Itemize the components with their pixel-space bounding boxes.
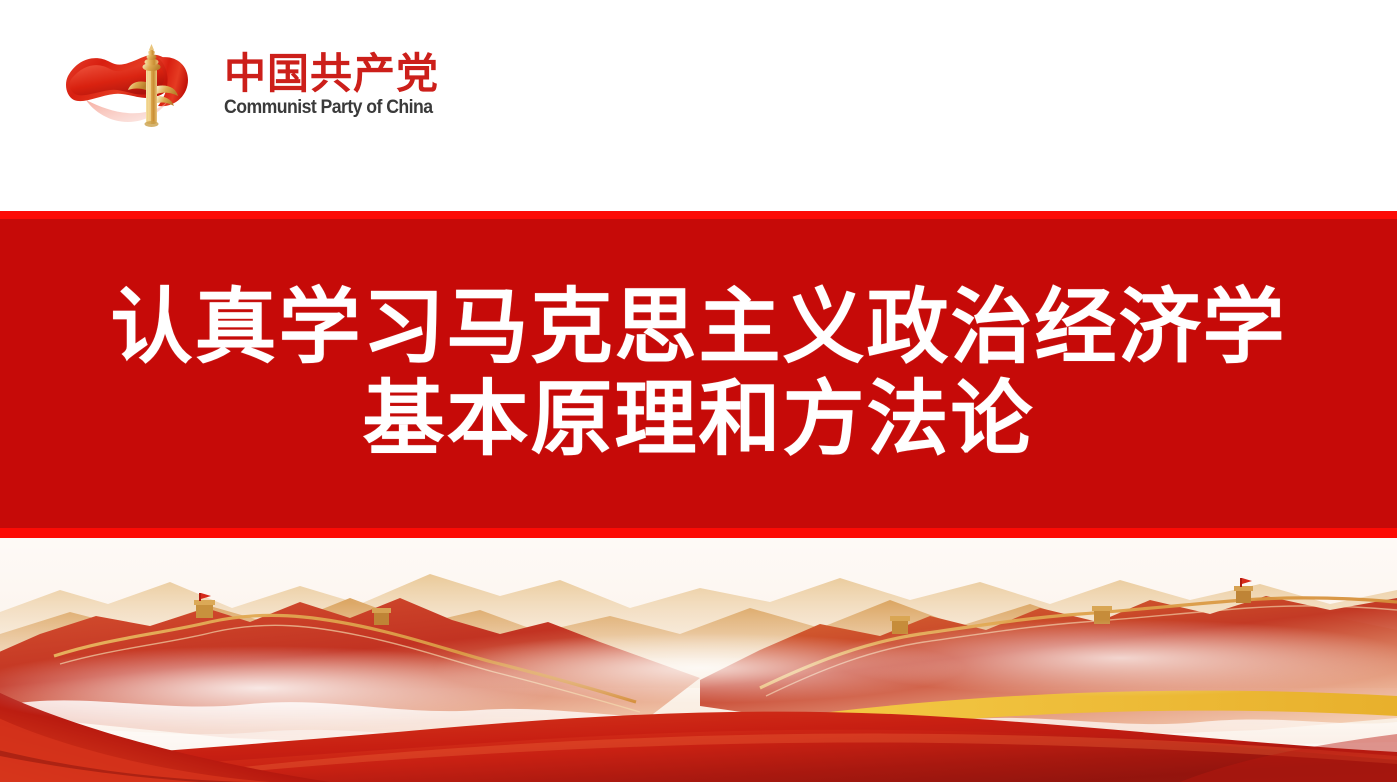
cpc-logo-chinese-name: 中国共产党: [224, 53, 448, 96]
cpc-logo: 中国共产党 Communist Party of China: [62, 38, 448, 134]
slide-title: 认真学习马克思主义政治经济学 基本原理和方法论: [0, 219, 1397, 528]
slide-canvas: 中国共产党 Communist Party of China 认真学习马克思主义…: [0, 0, 1397, 782]
great-wall-mountains-landscape: [0, 538, 1397, 782]
red-flag-with-golden-torch-icon: [62, 38, 212, 134]
cpc-logo-english-name: Communist Party of China: [224, 98, 432, 119]
title-band-bottom-rule: [0, 528, 1397, 538]
decorative-footer: [0, 538, 1397, 782]
title-band: 认真学习马克思主义政治经济学 基本原理和方法论: [0, 219, 1397, 528]
slide-header: 中国共产党 Communist Party of China: [0, 0, 1397, 211]
title-band-top-rule: [0, 211, 1397, 219]
slide-title-line-1: 认真学习马克思主义政治经济学: [110, 282, 1286, 374]
cpc-logo-text: 中国共产党 Communist Party of China: [224, 53, 448, 119]
slide-title-line-2: 基本原理和方法论: [362, 374, 1034, 466]
